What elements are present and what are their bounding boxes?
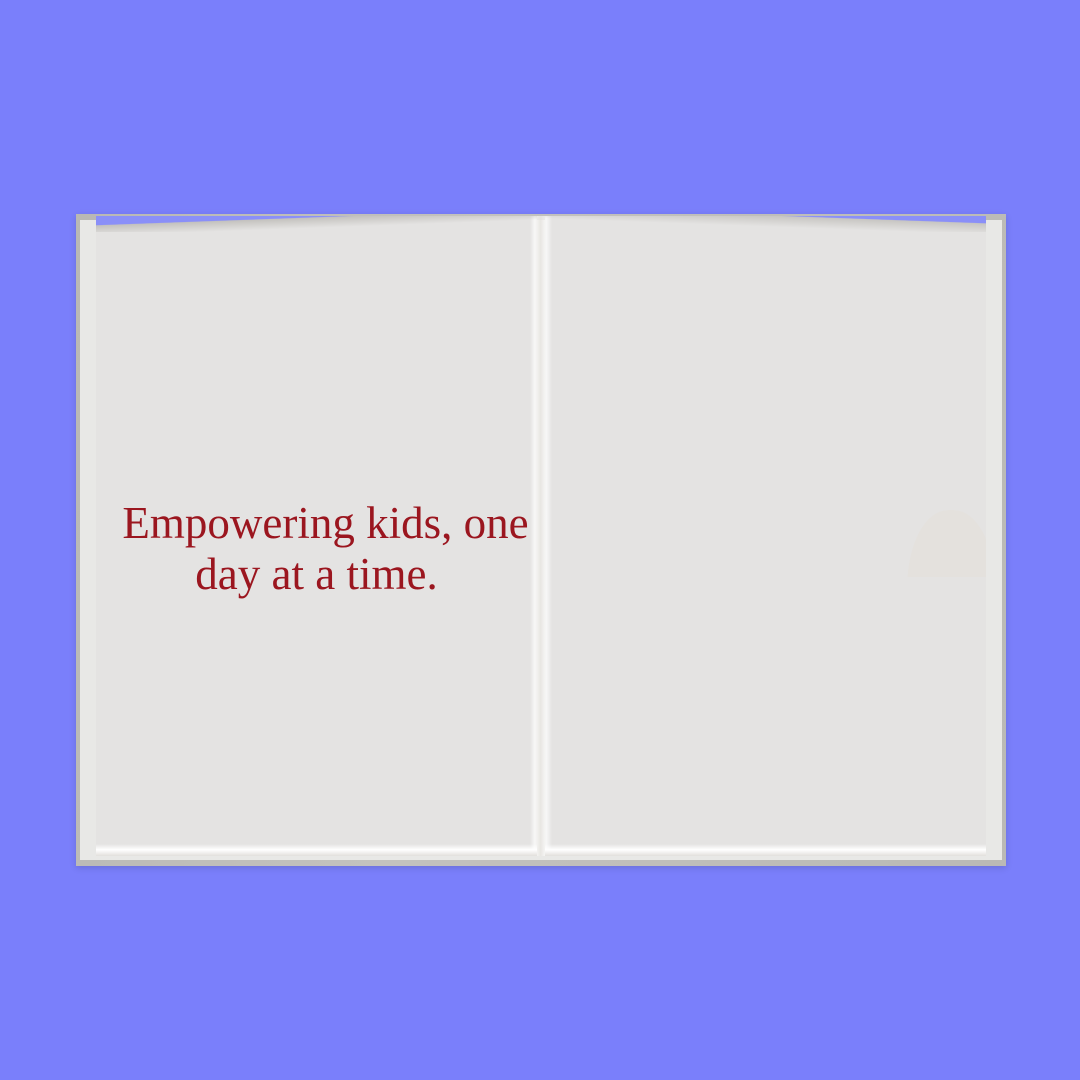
paper-sheet [556, 618, 684, 735]
right-page-photo [545, 216, 986, 856]
left-page: Empowering kids, one day at a time. [96, 216, 537, 856]
white-cup [836, 664, 876, 702]
left-quote-line-2: day at a time. [96, 549, 537, 600]
classroom-wall [545, 216, 986, 600]
desk-foreground [96, 589, 487, 739]
open-book: Empowering kids, one day at a time. [76, 214, 1006, 866]
counter-ledge [545, 517, 986, 581]
left-page-quote: Empowering kids, one day at a time. [96, 498, 537, 601]
plate [633, 658, 690, 696]
left-page-bottom-edge [96, 844, 537, 856]
snack-green [668, 632, 686, 651]
paper-stack-2 [271, 615, 494, 699]
craft-table [545, 619, 986, 856]
wall-border-strip [545, 261, 607, 280]
left-quote-line-1: Empowering kids, one [114, 498, 537, 549]
classroom-floor [96, 766, 537, 856]
craft-supplies [742, 698, 904, 764]
child-right [907, 510, 986, 676]
chair-back [668, 536, 721, 600]
window-glass [96, 216, 537, 485]
poster-pink [611, 280, 668, 488]
window-mullion-2 [369, 216, 376, 485]
wall-chart [818, 254, 986, 477]
child-center [704, 517, 792, 671]
child-left-arm [545, 581, 665, 709]
green-chalkboard [545, 274, 607, 459]
pink-craft-bar [695, 651, 783, 674]
right-page: Changing the world from the classroom. [545, 216, 986, 856]
craft-bottle [889, 651, 938, 734]
book-pages: Empowering kids, one day at a time. [96, 216, 986, 856]
snack-yellow [642, 645, 677, 671]
window-mullion-1 [167, 216, 174, 485]
slide-canvas: Empowering kids, one day at a time. [0, 0, 1080, 1080]
right-page-bottom-edge [545, 844, 986, 856]
poster-yellow [739, 280, 792, 472]
chair-frame-foreground [127, 711, 369, 856]
